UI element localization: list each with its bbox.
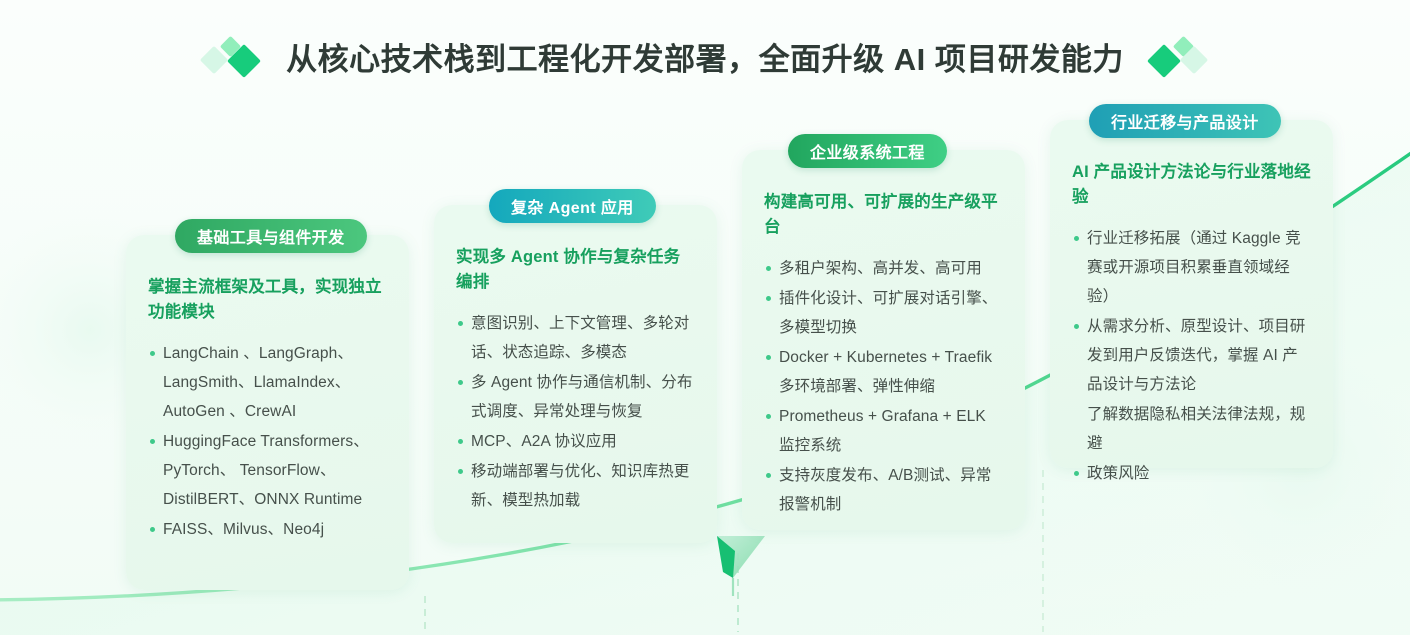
diamond-decoration-left-icon xyxy=(204,36,260,78)
card-bullet-list-industry: 行业迁移拓展（通过 Kaggle 竞赛或开源项目积累垂直领域经验） 从需求分析、… xyxy=(1072,224,1311,488)
card-bullet-list-foundation: LangChain 、LangGraph、LangSmith、LlamaInde… xyxy=(148,339,387,544)
list-item: LangChain 、LangGraph、LangSmith、LlamaInde… xyxy=(148,339,387,426)
card-subtitle-foundation: 掌握主流框架及工具，实现独立功能模块 xyxy=(148,275,387,325)
list-item: 从需求分析、原型设计、项目研发到用户反馈迭代，掌握 AI 产品设计与方法论 xyxy=(1072,312,1311,399)
list-item: 支持灰度发布、A/B测试、异常报警机制 xyxy=(764,461,1003,519)
list-item: Docker + Kubernetes + Traefik 多环境部署、弹性伸缩 xyxy=(764,343,1003,401)
diamond-decoration-right-icon xyxy=(1150,36,1206,78)
card-subtitle-industry: AI 产品设计方法论与行业落地经验 xyxy=(1072,160,1311,210)
list-item: Prometheus + Grafana + ELK 监控系统 xyxy=(764,402,1003,460)
card-bullet-list-enterprise: 多租户架构、高并发、高可用 插件化设计、可扩展对话引擎、多模型切换 Docker… xyxy=(764,254,1003,519)
list-item: 政策风险 xyxy=(1072,459,1311,488)
card-tag-agent: 复杂 Agent 应用 xyxy=(489,189,656,223)
card-tag-enterprise: 企业级系统工程 xyxy=(788,134,947,168)
page-title: 从核心技术栈到工程化开发部署，全面升级 AI 项目研发能力 xyxy=(286,34,1124,79)
list-item: MCP、A2A 协议应用 xyxy=(456,427,695,456)
list-item: HuggingFace Transformers、PyTorch、 Tensor… xyxy=(148,427,387,514)
list-item: FAISS、Milvus、Neo4j xyxy=(148,515,387,544)
list-item: 多租户架构、高并发、高可用 xyxy=(764,254,1003,283)
list-item: 行业迁移拓展（通过 Kaggle 竞赛或开源项目积累垂直领域经验） xyxy=(1072,224,1311,311)
skill-card-foundation[interactable]: 基础工具与组件开发 掌握主流框架及工具，实现独立功能模块 LangChain 、… xyxy=(126,235,409,590)
skill-card-enterprise[interactable]: 企业级系统工程 构建高可用、可扩展的生产级平台 多租户架构、高并发、高可用 插件… xyxy=(742,150,1025,530)
list-item: 移动端部署与优化、知识库热更新、模型热加载 xyxy=(456,457,695,515)
page-header: 从核心技术栈到工程化开发部署，全面升级 AI 项目研发能力 xyxy=(0,34,1410,79)
card-subtitle-agent: 实现多 Agent 协作与复杂任务编排 xyxy=(456,245,695,295)
list-item: 插件化设计、可扩展对话引擎、多模型切换 xyxy=(764,284,1003,342)
list-item: 意图识别、上下文管理、多轮对话、状态追踪、多模态 xyxy=(456,309,695,367)
list-item: 多 Agent 协作与通信机制、分布式调度、异常处理与恢复 xyxy=(456,368,695,426)
list-item-continuation: 了解数据隐私相关法律法规，规避 xyxy=(1072,400,1311,458)
card-subtitle-enterprise: 构建高可用、可扩展的生产级平台 xyxy=(764,190,1003,240)
card-bullet-list-agent: 意图识别、上下文管理、多轮对话、状态追踪、多模态 多 Agent 协作与通信机制… xyxy=(456,309,695,515)
skill-card-industry[interactable]: 行业迁移与产品设计 AI 产品设计方法论与行业落地经验 行业迁移拓展（通过 Ka… xyxy=(1050,120,1333,468)
card-tag-foundation: 基础工具与组件开发 xyxy=(175,219,367,253)
card-tag-industry: 行业迁移与产品设计 xyxy=(1089,104,1281,138)
skill-card-agent[interactable]: 复杂 Agent 应用 实现多 Agent 协作与复杂任务编排 意图识别、上下文… xyxy=(434,205,717,543)
